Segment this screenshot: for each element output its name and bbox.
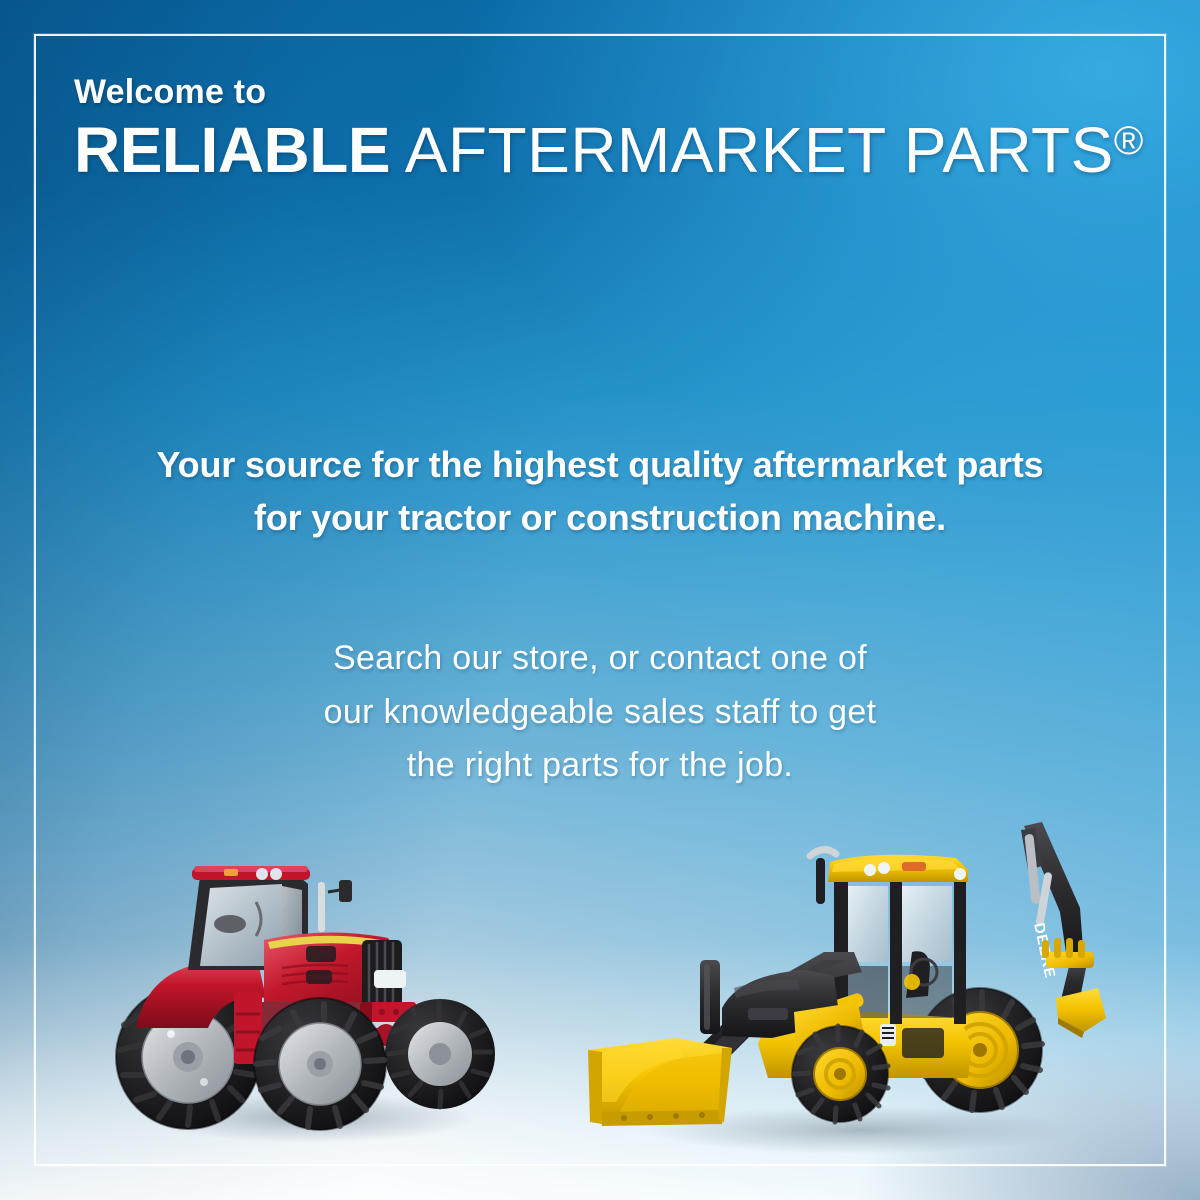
subcopy-line-2: our knowledgeable sales staff to get bbox=[0, 686, 1200, 740]
subcopy-line-1: Search our store, or contact one of bbox=[0, 632, 1200, 686]
tagline-line-2: for your tractor or construction machine… bbox=[0, 491, 1200, 544]
tractor-headlight bbox=[374, 970, 406, 988]
brand-name-light: AFTERMARKET PARTS bbox=[390, 114, 1114, 186]
tractor-front-wheel-far bbox=[385, 999, 495, 1109]
backhoe-image: DEERE bbox=[572, 812, 1112, 1162]
tagline-block: Your source for the highest quality afte… bbox=[0, 438, 1200, 545]
tagline-line-1: Your source for the highest quality afte… bbox=[0, 438, 1200, 491]
tractor-front-wheel-near bbox=[254, 998, 386, 1130]
backhoe-front-wheel bbox=[792, 1026, 888, 1122]
brand-title: RELIABLE AFTERMARKET PARTS® bbox=[74, 117, 1140, 185]
subcopy-block: Search our store, or contact one of our … bbox=[0, 632, 1200, 793]
brand-name-bold: RELIABLE bbox=[74, 114, 390, 186]
backhoe-rear-boom: DEERE bbox=[1021, 822, 1106, 1038]
registered-trademark-symbol: ® bbox=[1114, 119, 1143, 163]
tractor-image bbox=[96, 842, 516, 1162]
backhoe-front-bucket bbox=[588, 1038, 732, 1126]
subcopy-line-3: the right parts for the job. bbox=[0, 739, 1200, 793]
promo-banner: Welcome to RELIABLE AFTERMARKET PARTS® Y… bbox=[0, 0, 1200, 1200]
welcome-label: Welcome to bbox=[74, 74, 1140, 111]
headline-block: Welcome to RELIABLE AFTERMARKET PARTS® bbox=[74, 74, 1140, 185]
